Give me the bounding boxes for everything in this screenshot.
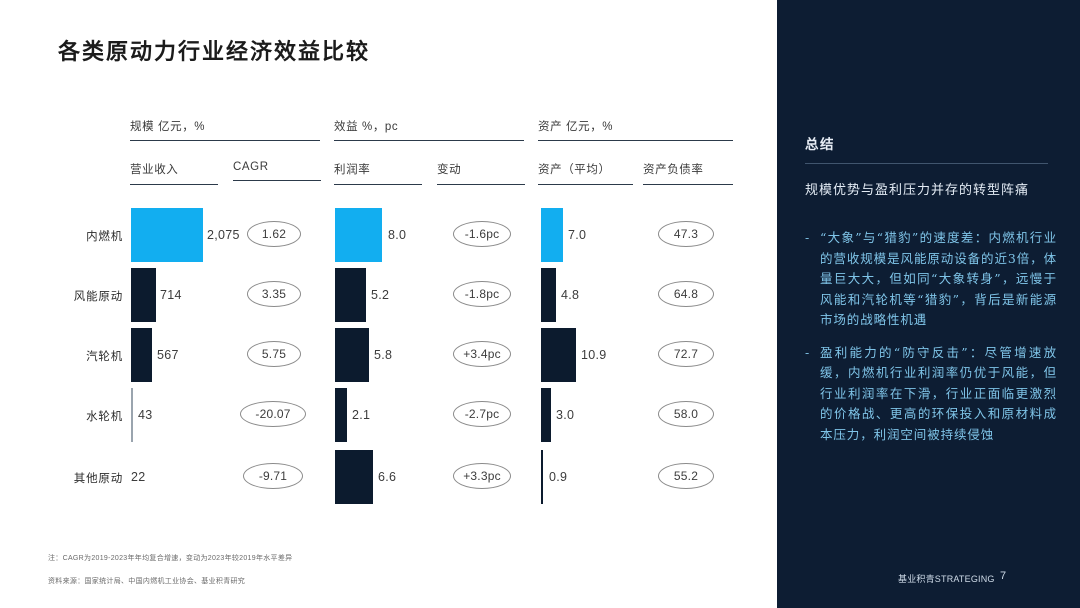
group-header-scale: 规模 亿元，% xyxy=(130,118,320,141)
pill-change-4: +3.3pc xyxy=(453,463,511,489)
footnote-source: 资料来源：国家统计局、中国内燃机工业协会、基业积青研究 xyxy=(48,576,245,586)
value-revenue-1: 714 xyxy=(160,288,182,302)
group-header-scale-rule xyxy=(130,140,320,141)
column-header-change-label: 变动 xyxy=(437,164,461,176)
column-header-margin-label: 利润率 xyxy=(334,164,370,176)
value-margin-1: 5.2 xyxy=(371,288,389,302)
group-header-profit-rule xyxy=(334,140,524,141)
column-header-revenue-label: 营业收入 xyxy=(130,164,178,176)
column-header-margin-rule xyxy=(334,184,422,185)
bar-assets-2 xyxy=(541,328,576,382)
bar-margin-2 xyxy=(335,328,369,382)
pill-cagr-3: -20.07 xyxy=(240,401,306,427)
group-header-assets: 资产 亿元，% xyxy=(538,118,733,141)
pill-change-1: -1.8pc xyxy=(453,281,511,307)
pill-debt-ratio-0: 47.3 xyxy=(658,221,714,247)
bullet-dash-icon: - xyxy=(805,343,810,364)
summary-heading: 总结 xyxy=(805,133,835,153)
bullet-dash-icon: - xyxy=(805,228,810,249)
slide-root: 各类原动力行业经济效益比较 规模 亿元，% 效益 %，pc 资产 亿元，% 营业… xyxy=(0,0,1080,608)
pill-change-2: +3.4pc xyxy=(453,341,511,367)
column-header-cagr: CAGR xyxy=(233,161,269,181)
pill-cagr-2: 5.75 xyxy=(247,341,301,367)
page-title: 各类原动力行业经济效益比较 xyxy=(58,34,370,66)
row-label-0: 内燃机 xyxy=(55,228,123,244)
summary-sidebar: 总结 规模优势与盈利压力并存的转型阵痛 - “大象”与“猎豹”的速度差：内燃机行… xyxy=(777,0,1080,608)
column-header-margin: 利润率 xyxy=(334,161,370,185)
value-assets-4: 0.9 xyxy=(549,470,567,484)
pill-change-0: -1.6pc xyxy=(453,221,511,247)
value-assets-0: 7.0 xyxy=(568,228,586,242)
column-header-cagr-rule xyxy=(233,180,321,181)
bar-assets-3 xyxy=(541,388,551,442)
column-header-debt-ratio-rule xyxy=(643,184,733,185)
pill-debt-ratio-4: 55.2 xyxy=(658,463,714,489)
column-header-revenue-rule xyxy=(130,184,218,185)
value-revenue-0: 2,075 xyxy=(207,228,240,242)
pill-cagr-4: -9.71 xyxy=(243,463,303,489)
column-header-assets-rule xyxy=(538,184,633,185)
column-header-assets-label: 资产（平均） xyxy=(538,164,611,176)
summary-bullet-1: - 盈利能力的“防守反击”：尽管增速放缓，内燃机行业利润率仍优于风能，但行业利润… xyxy=(805,343,1057,446)
group-header-scale-label: 规模 亿元，% xyxy=(130,121,205,133)
column-header-revenue: 营业收入 xyxy=(130,161,178,185)
pill-debt-ratio-3: 58.0 xyxy=(658,401,714,427)
brand-logo: 基业积青STRATEGING xyxy=(898,572,995,585)
bar-margin-3 xyxy=(335,388,347,442)
group-header-assets-rule xyxy=(538,140,733,141)
column-header-change-rule xyxy=(437,184,525,185)
column-header-cagr-label: CAGR xyxy=(233,161,269,173)
group-header-profit: 效益 %，pc xyxy=(334,118,524,141)
column-header-debt-ratio: 资产负债率 xyxy=(643,161,704,185)
bar-margin-0 xyxy=(335,208,382,262)
group-header-assets-label: 资产 亿元，% xyxy=(538,121,613,133)
row-label-2: 汽轮机 xyxy=(55,348,123,364)
pill-debt-ratio-1: 64.8 xyxy=(658,281,714,307)
row-label-3: 水轮机 xyxy=(55,408,123,424)
bar-assets-4 xyxy=(541,450,543,504)
summary-lead: 规模优势与盈利压力并存的转型阵痛 xyxy=(805,180,1053,201)
summary-bullet-list: - “大象”与“猎豹”的速度差：内燃机行业的营收规模是风能原动设备的近3倍，体量… xyxy=(805,228,1057,457)
summary-bullet-0-text: “大象”与“猎豹”的速度差：内燃机行业的营收规模是风能原动设备的近3倍，体量巨大… xyxy=(820,230,1057,327)
value-revenue-3: 43 xyxy=(138,408,153,422)
value-assets-3: 3.0 xyxy=(556,408,574,422)
pill-cagr-1: 3.35 xyxy=(247,281,301,307)
bar-revenue-2 xyxy=(131,328,152,382)
column-header-change: 变动 xyxy=(437,161,461,185)
bar-assets-0 xyxy=(541,208,563,262)
column-header-debt-ratio-label: 资产负债率 xyxy=(643,164,704,176)
bar-margin-4 xyxy=(335,450,373,504)
summary-bullet-1-text: 盈利能力的“防守反击”：尽管增速放缓，内燃机行业利润率仍优于风能，但行业利润率在… xyxy=(820,345,1057,442)
page-number: 7 xyxy=(1000,570,1006,582)
value-assets-2: 10.9 xyxy=(581,348,607,362)
value-margin-4: 6.6 xyxy=(378,470,396,484)
footnote-note: 注：CAGR为2019-2023年年均复合增速，变动为2023年较2019年水平… xyxy=(48,553,292,563)
bar-revenue-3 xyxy=(131,388,133,442)
pill-debt-ratio-2: 72.7 xyxy=(658,341,714,367)
bar-revenue-0 xyxy=(131,208,203,262)
value-margin-2: 5.8 xyxy=(374,348,392,362)
bar-margin-1 xyxy=(335,268,366,322)
value-revenue-2: 567 xyxy=(157,348,179,362)
summary-bullet-0: - “大象”与“猎豹”的速度差：内燃机行业的营收规模是风能原动设备的近3倍，体量… xyxy=(805,228,1057,331)
bar-revenue-1 xyxy=(131,268,156,322)
value-revenue-4: 22 xyxy=(131,470,146,484)
value-assets-1: 4.8 xyxy=(561,288,579,302)
column-header-assets: 资产（平均） xyxy=(538,161,611,185)
pill-change-3: -2.7pc xyxy=(453,401,511,427)
main-content-area: 各类原动力行业经济效益比较 规模 亿元，% 效益 %，pc 资产 亿元，% 营业… xyxy=(0,0,777,608)
row-label-1: 风能原动 xyxy=(43,288,123,304)
summary-rule xyxy=(805,163,1048,164)
pill-cagr-0: 1.62 xyxy=(247,221,301,247)
group-header-profit-label: 效益 %，pc xyxy=(334,121,398,133)
row-label-4: 其他原动 xyxy=(43,470,123,486)
value-margin-0: 8.0 xyxy=(388,228,406,242)
value-margin-3: 2.1 xyxy=(352,408,370,422)
bar-assets-1 xyxy=(541,268,556,322)
